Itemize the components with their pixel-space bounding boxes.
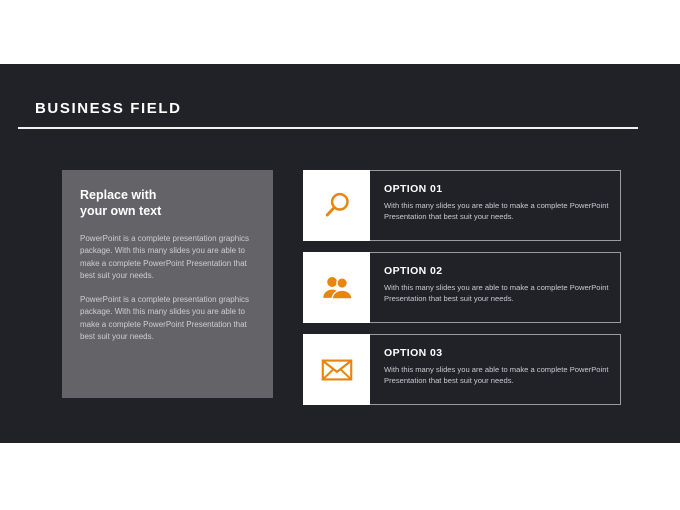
envelope-icon [321,358,353,382]
magnifier-icon [322,191,352,221]
users-icon [322,274,352,302]
option-text-block: OPTION 01 With this many slides you are … [370,171,620,240]
option-icon-tile [303,170,370,241]
option-icon-tile [303,252,370,323]
option-card-list: OPTION 01 With this many slides you are … [303,170,621,416]
option-icon-tile [303,334,370,405]
panel-heading: Replace with your own text [80,187,260,219]
option-card[interactable]: OPTION 03 With this many slides you are … [303,334,621,405]
panel-paragraph-2: PowerPoint is a complete presentation gr… [80,294,258,344]
option-description: With this many slides you are able to ma… [384,364,609,386]
option-description: With this many slides you are able to ma… [384,200,609,222]
left-text-panel: Replace with your own text PowerPoint is… [62,170,273,398]
option-title: OPTION 02 [384,265,610,277]
slide-canvas: BUSINESS FIELD Replace with your own tex… [0,0,680,510]
option-text-block: OPTION 03 With this many slides you are … [370,335,620,404]
option-text-block: OPTION 02 With this many slides you are … [370,253,620,322]
page-title: BUSINESS FIELD [35,100,182,117]
option-card[interactable]: OPTION 02 With this many slides you are … [303,252,621,323]
title-underline-rule [18,127,638,129]
option-description: With this many slides you are able to ma… [384,282,609,304]
option-card[interactable]: OPTION 01 With this many slides you are … [303,170,621,241]
option-title: OPTION 03 [384,347,610,359]
option-title: OPTION 01 [384,183,610,195]
panel-paragraph-1: PowerPoint is a complete presentation gr… [80,233,258,283]
